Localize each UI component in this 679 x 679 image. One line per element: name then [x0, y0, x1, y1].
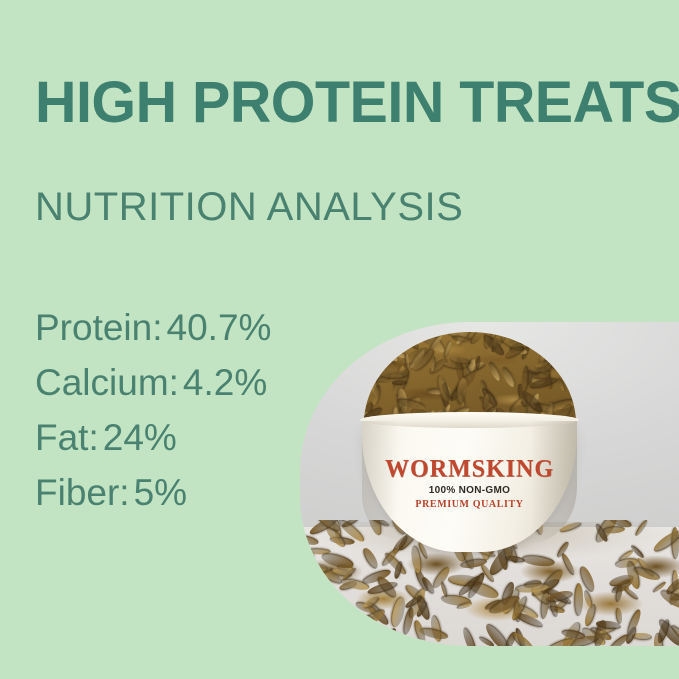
larva	[583, 590, 594, 609]
nutrition-row-fiber: Fiber:5%	[35, 465, 335, 520]
nutrition-label-fat: Fat:	[35, 417, 99, 458]
larva	[332, 601, 350, 628]
larva	[392, 379, 407, 384]
product-infographic: WORMSKING 100% NON-GMO PREMIUM QUALITY H…	[0, 0, 679, 679]
larva	[511, 631, 537, 646]
larva	[521, 365, 529, 392]
nutrition-row-fat: Fat:24%	[35, 410, 335, 465]
nutrition-label-fiber: Fiber:	[35, 472, 130, 513]
nutrition-value-fat: 24%	[103, 417, 177, 458]
larva	[487, 361, 503, 383]
larva	[615, 607, 623, 624]
nutrition-value-fiber: 5%	[134, 472, 187, 513]
nutrition-value-calcium: 4.2%	[183, 362, 267, 403]
nutrition-row-calcium: Calcium:4.2%	[35, 355, 335, 410]
larva	[499, 365, 517, 388]
nutrition-label-calcium: Calcium:	[35, 362, 179, 403]
larva	[633, 520, 648, 537]
nutrition-value-protein: 40.7%	[167, 307, 272, 348]
product-bowl: WORMSKING 100% NON-GMO PREMIUM QUALITY	[362, 417, 577, 552]
page-title: HIGH PROTEIN TREATS	[35, 74, 653, 132]
larva	[360, 547, 380, 572]
larva	[522, 554, 556, 568]
larva	[461, 626, 479, 646]
nutrition-list: Protein:40.7% Calcium:4.2% Fat:24% Fiber…	[35, 300, 335, 520]
product-photo: WORMSKING 100% NON-GMO PREMIUM QUALITY	[300, 322, 679, 646]
larva	[508, 397, 523, 413]
larva	[380, 370, 408, 379]
nutrition-row-protein: Protein:40.7%	[35, 300, 335, 355]
larva	[455, 377, 468, 405]
nutrition-label-protein: Protein:	[35, 307, 163, 348]
page-subtitle: NUTRITION ANALYSIS	[35, 187, 463, 227]
larva	[574, 583, 584, 616]
